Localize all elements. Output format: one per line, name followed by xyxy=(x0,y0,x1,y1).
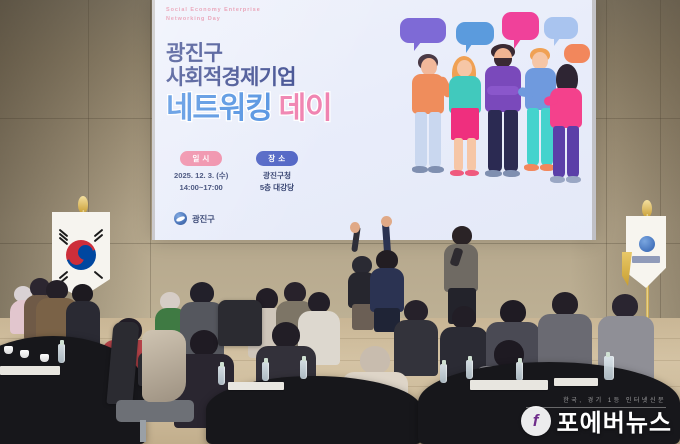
head xyxy=(376,250,398,270)
water-bottle xyxy=(440,364,447,383)
speech-bubble-tail xyxy=(554,38,560,46)
wall-seam xyxy=(150,0,151,320)
poster-headline: 네트워킹데이 xyxy=(166,93,396,125)
place-badge: 장 소 xyxy=(256,151,297,166)
poster-date-block: 일 시 2025. 12. 3. (수) 14:00~17:00 xyxy=(174,148,228,194)
organizer-name: 광진구 xyxy=(192,213,215,225)
poster-eyebrow: Social Economy Enterprise Networking Day xyxy=(166,6,396,25)
speech-bubble-icon xyxy=(400,18,446,43)
poster-illustration xyxy=(398,8,588,230)
hand xyxy=(350,222,360,233)
gwangjin-emblem-icon xyxy=(174,212,187,225)
speech-bubble-tail xyxy=(414,42,421,51)
water-bottle xyxy=(604,356,614,380)
poster-text-block: Social Economy Enterprise Networking Day… xyxy=(166,6,396,125)
chair-back xyxy=(218,300,262,346)
forever-news-logo-icon: f xyxy=(521,406,551,436)
speech-bubble-icon xyxy=(502,12,539,40)
watermark: f 포에버뉴스 xyxy=(521,403,672,438)
projection-screen: Social Economy Enterprise Networking Day… xyxy=(152,0,596,240)
water-bottle xyxy=(466,360,473,379)
office-chair-seat xyxy=(116,400,194,422)
water-bottle xyxy=(218,366,225,385)
screen-edge xyxy=(152,0,155,240)
poster-title-line2: 사회적경제기업 xyxy=(166,66,396,90)
document xyxy=(228,382,284,390)
torso xyxy=(370,268,404,312)
water-bottle xyxy=(58,344,65,363)
coat-on-chair xyxy=(142,330,186,402)
poster-headline-pink: 데이 xyxy=(279,92,332,125)
paper-cup xyxy=(20,350,29,358)
organizer-logo: 광진구 xyxy=(174,212,215,225)
poster-title-line1: 광진구 xyxy=(166,43,396,66)
flag-text xyxy=(632,256,660,263)
speech-bubble-tail xyxy=(514,39,521,49)
watermark-outlet-name: 포에버뉴스 xyxy=(557,403,672,438)
water-bottle xyxy=(300,360,307,379)
speech-bubble-tail xyxy=(466,44,472,53)
paper-cup xyxy=(40,354,49,362)
document xyxy=(554,378,598,386)
speech-bubble-icon xyxy=(564,44,590,63)
speech-bubble-icon xyxy=(544,17,578,39)
hand xyxy=(381,216,392,227)
taeguk-symbol xyxy=(66,240,96,270)
speech-bubble-icon xyxy=(456,22,494,45)
poster-place-block: 장 소 광진구청 5층 대강당 xyxy=(256,148,297,194)
place-value: 광진구청 5층 대강당 xyxy=(256,170,297,194)
head xyxy=(452,226,472,245)
paper-cup xyxy=(4,346,13,354)
poster-headline-blue: 네트워킹 xyxy=(166,92,272,125)
photo-scene: Social Economy Enterprise Networking Day… xyxy=(0,0,680,444)
gwangjin-emblem-icon xyxy=(639,236,655,252)
water-bottle xyxy=(516,362,523,381)
document xyxy=(470,380,548,390)
screen-edge xyxy=(592,0,596,240)
date-badge: 일 시 xyxy=(180,151,221,166)
water-bottle xyxy=(262,362,269,381)
office-chair-leg xyxy=(140,420,146,442)
poster-info-row: 일 시 2025. 12. 3. (수) 14:00~17:00 장 소 광진구… xyxy=(174,148,374,194)
document xyxy=(0,366,60,375)
date-value: 2025. 12. 3. (수) 14:00~17:00 xyxy=(174,170,228,194)
